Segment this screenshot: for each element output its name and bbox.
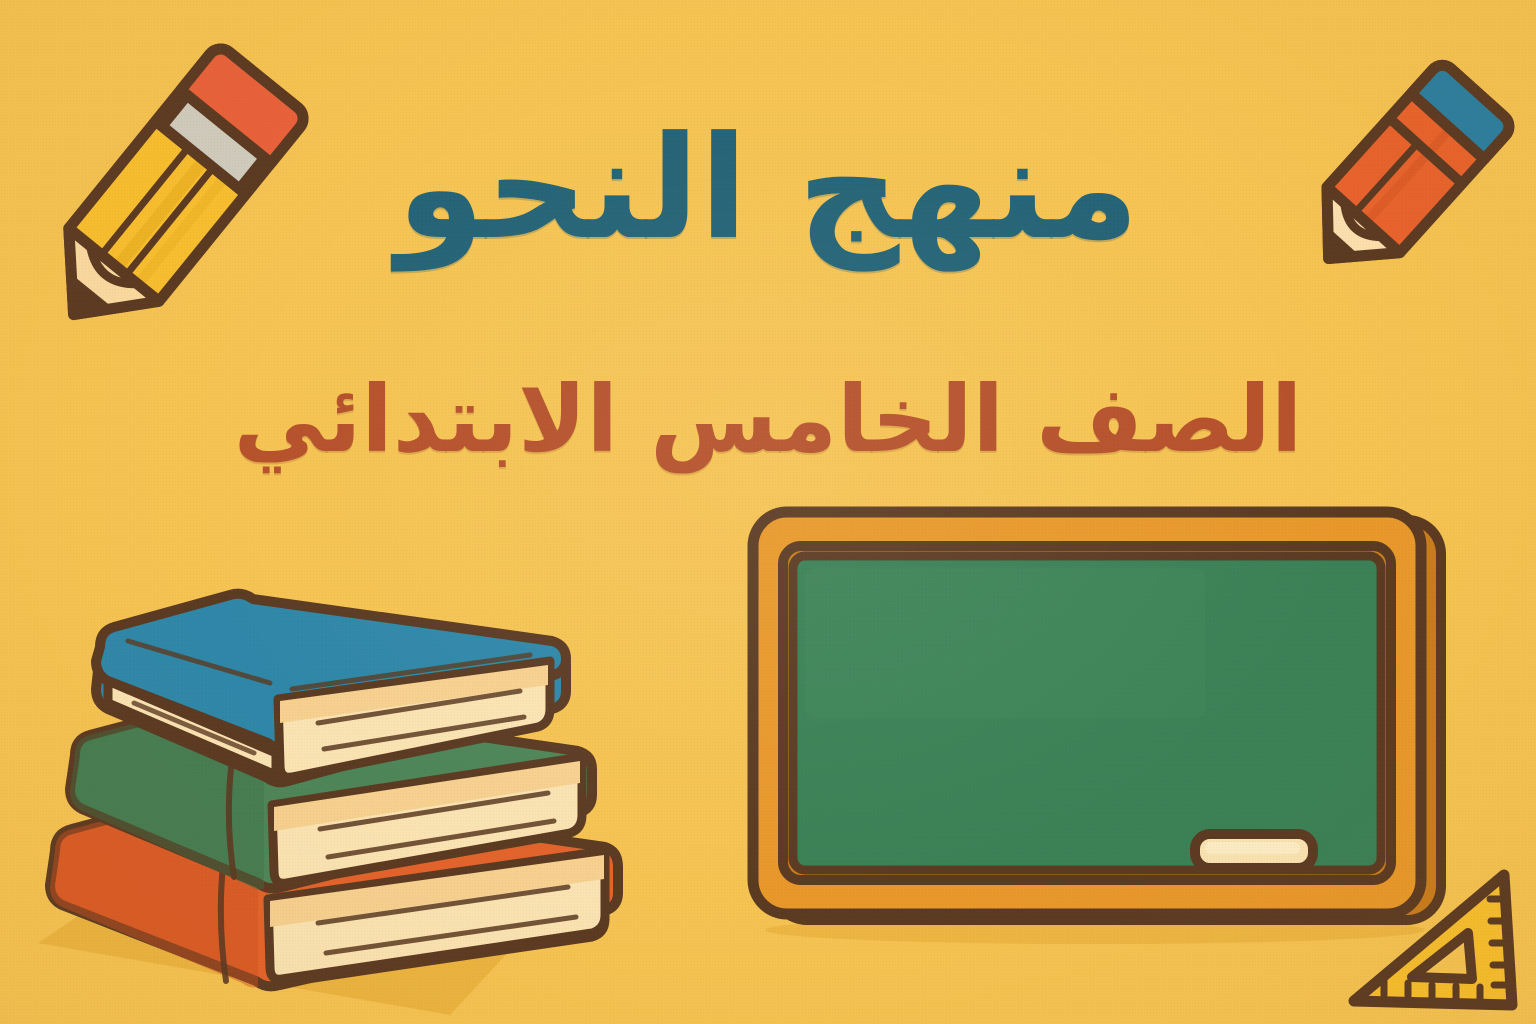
poster-canvas: منهج النحو الصف الخامس الابتدائي <box>0 0 1536 1024</box>
triangle-ruler-illustration <box>1340 855 1536 1024</box>
poster-title: منهج النحو <box>397 118 1140 260</box>
poster-subtitle-container: الصف الخامس الابتدائي <box>0 372 1536 469</box>
poster-subtitle: الصف الخامس الابتدائي <box>234 372 1303 469</box>
poster-title-container: منهج النحو <box>0 118 1536 260</box>
book-stack-illustration <box>30 495 640 1024</box>
